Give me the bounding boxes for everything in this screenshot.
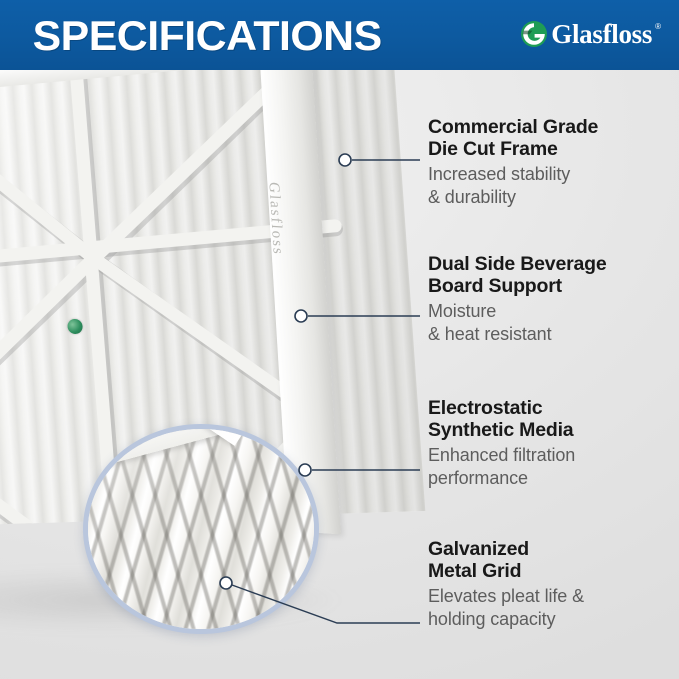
callout-title-line1: Commercial Grade — [428, 116, 676, 138]
callout-sub-line2: & durability — [428, 186, 676, 209]
callout-commercial-grade-die-cut-frame: Commercial Grade Die Cut Frame Increased… — [428, 116, 676, 209]
callout-sub-line2: & heat resistant — [428, 323, 676, 346]
brand-logo-text: Glasfloss — [551, 20, 652, 48]
brand-trademark-symbol: ® — [655, 22, 661, 32]
callout-sub-line2: performance — [428, 467, 676, 490]
magnified-filter-media — [83, 424, 319, 634]
callout-dual-side-beverage-board-support: Dual Side Beverage Board Support Moistur… — [428, 253, 676, 346]
callout-title-line2: Synthetic Media — [428, 419, 676, 441]
callout-title-line1: Electrostatic — [428, 397, 676, 419]
brand-logo: Glasfloss ® — [520, 20, 661, 48]
callout-title-line1: Dual Side Beverage — [428, 253, 676, 275]
callout-galvanized-metal-grid: Galvanized Metal Grid Elevates pleat lif… — [428, 538, 676, 631]
callout-sub-line1: Increased stability — [428, 163, 676, 186]
media-closeup-magnifier — [83, 424, 319, 634]
callout-title-line1: Galvanized — [428, 538, 676, 560]
header-banner: SPECIFICATIONS Glasfloss ® — [0, 0, 679, 70]
callout-sub-line1: Moisture — [428, 300, 676, 323]
glasfloss-g-mark-icon — [520, 20, 548, 48]
callout-title-line2: Die Cut Frame — [428, 138, 676, 160]
specifications-infographic: Glasfloss SPECIFICATIONS — [0, 0, 679, 679]
page-title: SPECIFICATIONS — [33, 12, 382, 60]
callout-title-line2: Metal Grid — [428, 560, 676, 582]
callout-sub-line2: holding capacity — [428, 608, 676, 631]
callout-title-line2: Board Support — [428, 275, 676, 297]
callout-electrostatic-synthetic-media: Electrostatic Synthetic Media Enhanced f… — [428, 397, 676, 490]
frame-brand-text: Glasfloss — [264, 182, 286, 257]
callout-sub-line1: Elevates pleat life & — [428, 585, 676, 608]
magnified-grid-bar-horizontal — [83, 424, 319, 483]
callout-sub-line1: Enhanced filtration — [428, 444, 676, 467]
